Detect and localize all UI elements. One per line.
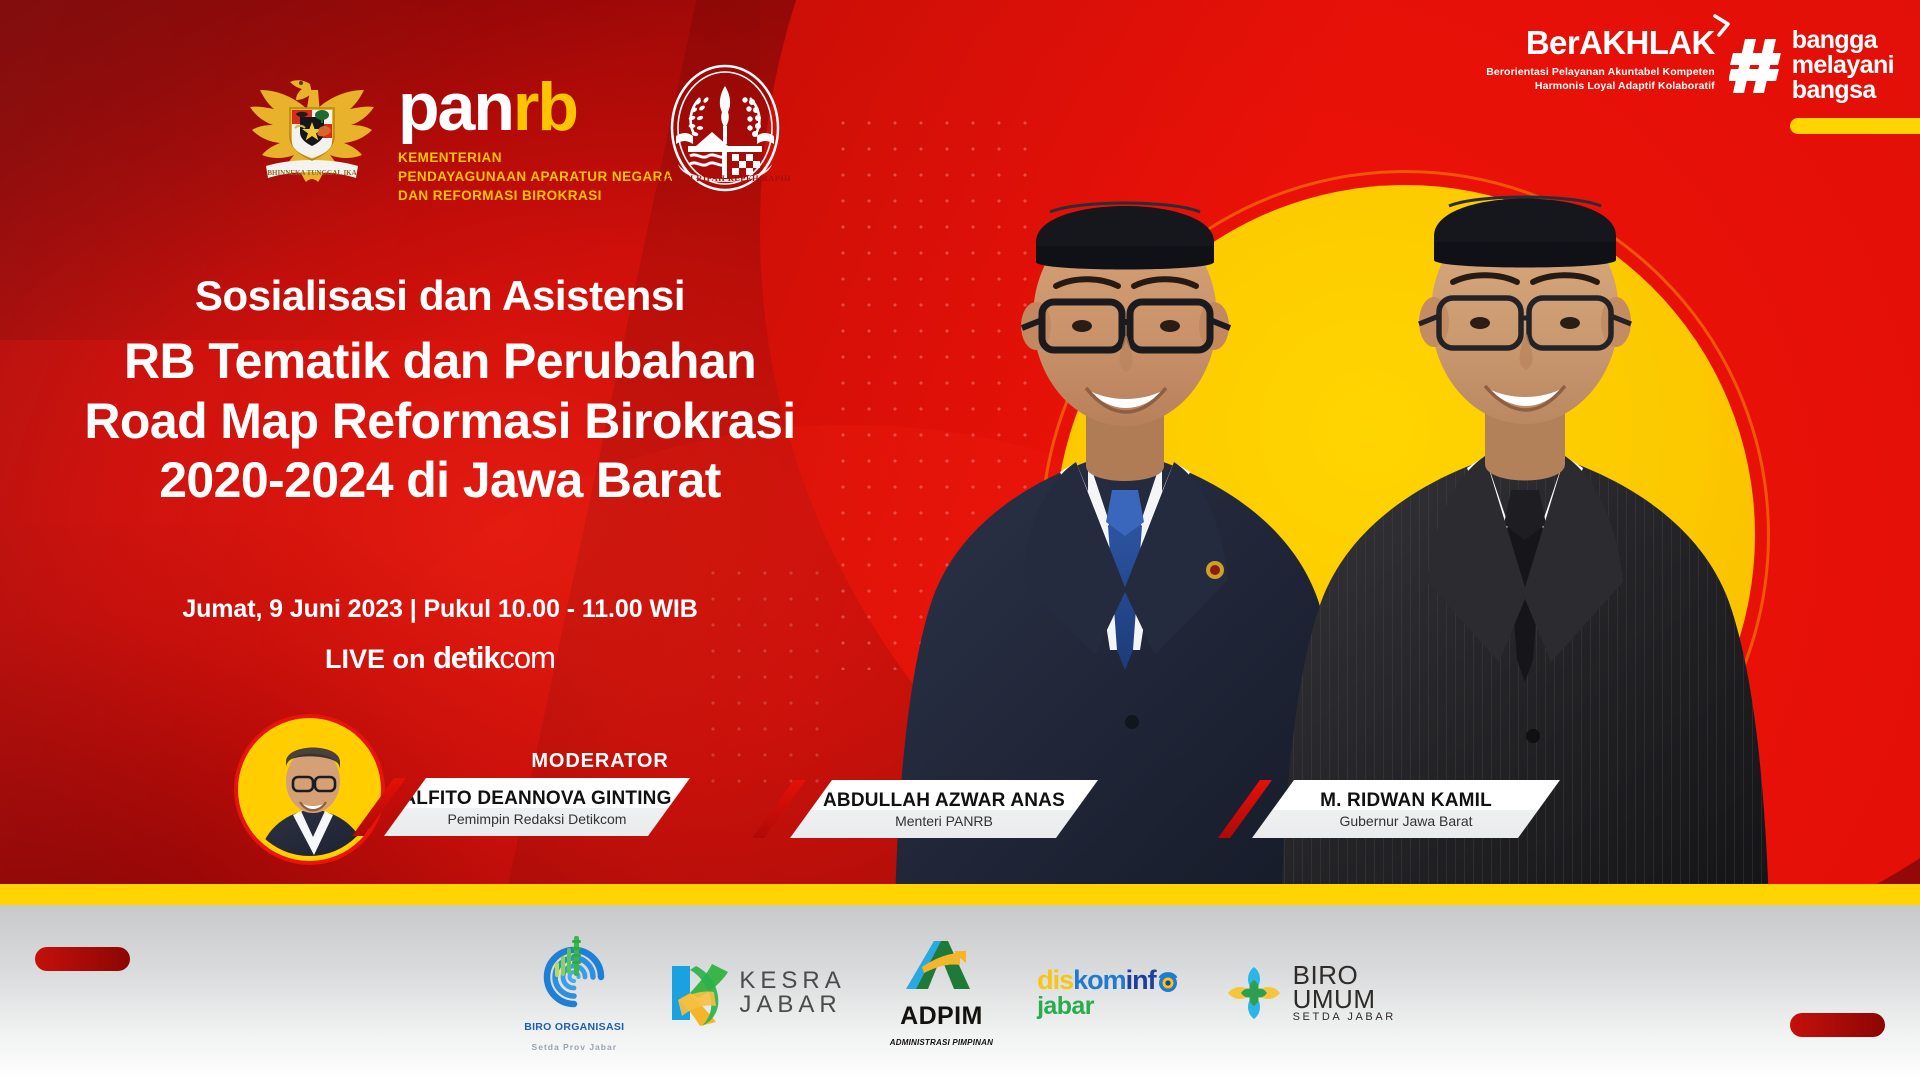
kesra-jabar-k-icon (668, 960, 730, 1026)
svg-text:BHINNEKA TUNGGAL IKA: BHINNEKA TUNGGAL IKA (267, 169, 356, 177)
ministry-line-1: KEMENTERIAN (398, 148, 673, 167)
moderator-role: Pemimpin Redaksi Detikcom (448, 811, 627, 827)
biro-organisasi-spiral-icon (531, 934, 617, 1010)
event-poster: BHINNEKA TUNGGAL IKA (0, 0, 1920, 1080)
detik-brand-light: com (499, 640, 555, 675)
ministry-line-3: DAN REFORMASI BIROKRASI (398, 186, 673, 205)
kesra-line-2: JABAR (739, 993, 845, 1017)
biro-umum-flower-icon (1224, 963, 1284, 1023)
event-title: RB Tematik dan Perubahan Road Map Reform… (0, 332, 880, 511)
speaker-2-nameplate: M. RIDWAN KAMIL Gubernur Jawa Barat (1252, 780, 1560, 838)
diskominfo-line-2: jabar (1037, 994, 1180, 1019)
event-title-block: Sosialisasi dan Asistensi RB Tematik dan… (0, 272, 880, 511)
partner-logo-kesra-jabar: KESRA JABAR (668, 960, 845, 1026)
diskominfo-line-1: diskominf (1037, 967, 1180, 994)
partner-logo-row: BIRO ORGANISASI Setda Prov Jabar KESRA J… (0, 905, 1920, 1080)
detik-brand-bold: detik (433, 640, 499, 675)
speaker-1-name: ABDULLAH AZWAR ANAS (823, 790, 1065, 812)
partner-logo-biro-organisasi: BIRO ORGANISASI Setda Prov Jabar (524, 934, 624, 1052)
chevron-accent-icon (1713, 14, 1730, 37)
speaker-1-role: Menteri PANRB (895, 813, 993, 829)
berakhlak-title: BerAKHLAK (1486, 26, 1715, 59)
biro-umum-line-3: SETDA JABAR (1293, 1012, 1396, 1022)
moderator-label: MODERATOR (420, 750, 780, 773)
jabar-motto: GEMAH RIPAH REPEH RAPIH (660, 174, 790, 183)
biro-organisasi-caption: BIRO ORGANISASI (524, 1021, 624, 1033)
moderator-nameplate: ALFITO DEANNOVA GINTING Pemimpin Redaksi… (384, 778, 690, 836)
poster-header: BHINNEKA TUNGGAL IKA (0, 0, 1920, 240)
west-java-coat-of-arms-icon: GEMAH RIPAH REPEH RAPIH (660, 60, 790, 200)
live-broadcast-info: LIVE on detikcom (0, 640, 880, 676)
berakhlak-tagline-1: Berorientasi Pelayanan Akuntabel Kompete… (1486, 65, 1715, 79)
moderator-name: ALFITO DEANNOVA GINTING (402, 788, 671, 810)
slogan-line-3: bangsa (1792, 78, 1894, 103)
partner-logo-diskominfo-jabar: diskominf jabar (1037, 967, 1180, 1019)
berakhlak-slogan: bangga melayani bangsa (1792, 28, 1894, 103)
panrb-word-pan: pan (398, 69, 513, 145)
diskominfo-kom: kom (1073, 965, 1126, 995)
berakhlak-logo: BerAKHLAK Berorientasi Pelayanan Akuntab… (1486, 22, 1894, 103)
moderator-portrait-icon (243, 723, 376, 856)
partner-logo-adpim: ADPIM ADMINISTRASI PIMPINAN (890, 939, 993, 1047)
berakhlak-akhlak: AKHLAK (1579, 24, 1715, 61)
live-prefix: LIVE on (325, 644, 426, 674)
adpim-arrow-icon (904, 939, 978, 995)
kesra-line-1: KESRA (739, 969, 845, 993)
speaker-1-nameplate: ABDULLAH AZWAR ANAS Menteri PANRB (790, 780, 1098, 838)
diskominfo-wordmark: diskominf jabar (1037, 967, 1180, 1019)
panrb-wordmark: panrb (398, 76, 673, 139)
biro-organisasi-subcaption: Setda Prov Jabar (532, 1042, 617, 1052)
event-datetime: Jumat, 9 Juni 2023 | Pukul 10.00 - 11.00… (0, 595, 880, 624)
biro-umum-line-2: UMUM (1293, 987, 1396, 1011)
diskominfo-dis: dis (1037, 965, 1073, 995)
partner-logo-biro-umum: BIRO UMUM SETDA JABAR (1224, 963, 1396, 1023)
slogan-line-1: bangga (1792, 28, 1894, 53)
adpim-wordmark: ADPIM (900, 1004, 983, 1029)
ministry-line-2: PENDAYAGUNAAN APARATUR NEGARA (398, 167, 673, 186)
garuda-pancasila-icon: BHINNEKA TUNGGAL IKA (248, 62, 376, 190)
slogan-line-2: melayani (1792, 53, 1894, 78)
event-title-line-1: RB Tematik dan Perubahan (0, 332, 880, 392)
event-title-line-2: Road Map Reformasi Birokrasi (0, 392, 880, 452)
ministry-name: KEMENTERIAN PENDAYAGUNAAN APARATUR NEGAR… (398, 148, 673, 205)
moderator-photo (243, 723, 376, 856)
speaker-2-role: Gubernur Jawa Barat (1339, 813, 1472, 829)
berakhlak-ber: Ber (1526, 24, 1579, 61)
berakhlak-tagline-2: Harmonis Loyal Adaptif Kolaboratif (1486, 79, 1715, 93)
panrb-logo-lockup: BHINNEKA TUNGGAL IKA (248, 62, 673, 205)
moderator-photo-ring (238, 718, 381, 861)
speaker-2-name: M. RIDWAN KAMIL (1320, 790, 1492, 812)
hashtag-icon (1729, 35, 1783, 97)
yellow-divider-strip (0, 884, 1920, 905)
kesra-jabar-wordmark: KESRA JABAR (739, 969, 845, 1017)
adpim-subcaption: ADMINISTRASI PIMPINAN (890, 1038, 993, 1047)
biro-umum-wordmark: BIRO UMUM SETDA JABAR (1293, 963, 1396, 1022)
diskominfo-inf: inf (1126, 965, 1156, 995)
event-title-line-3: 2020-2024 di Jawa Barat (0, 451, 880, 511)
event-kicker: Sosialisasi dan Asistensi (0, 272, 880, 320)
diskominfo-wifi-icon (1156, 970, 1180, 994)
panrb-word-rb: rb (513, 69, 577, 145)
